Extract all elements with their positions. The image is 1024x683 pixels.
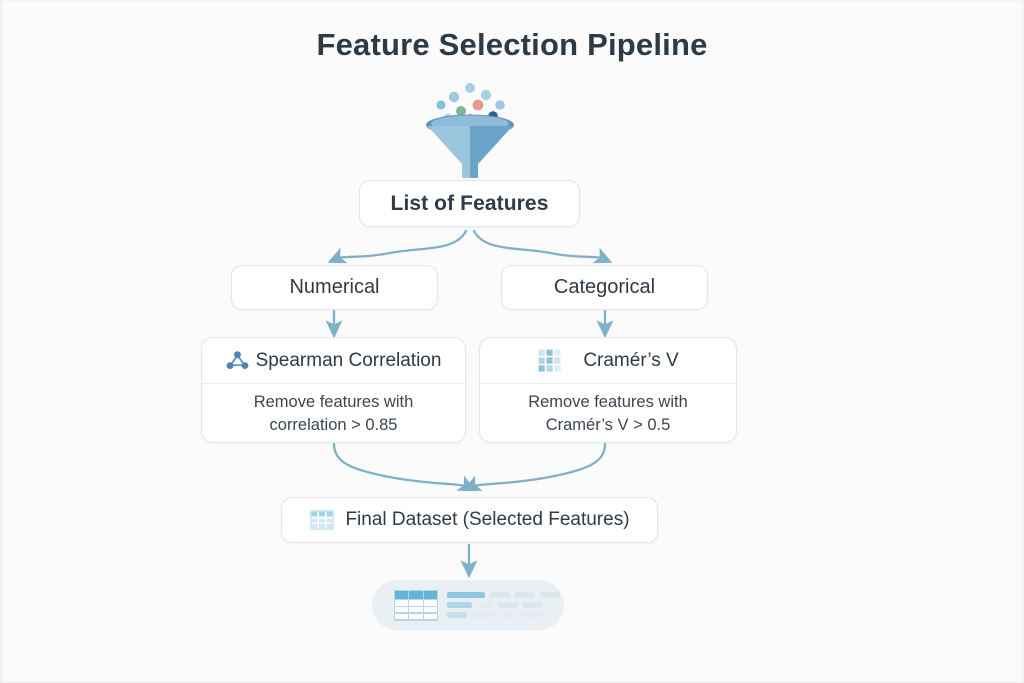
card-cramers-v-title: Cramér’s V <box>583 350 678 372</box>
node-list-of-features[interactable]: List of Features <box>359 180 580 227</box>
card-spearman-desc-line-2: correlation > 0.85 <box>270 414 398 436</box>
grid-matrix-icon <box>537 348 562 373</box>
illustration-bars <box>447 592 560 618</box>
node-categorical[interactable]: Categorical <box>501 265 708 310</box>
node-final-dataset[interactable]: Final Dataset (Selected Features) <box>281 497 658 543</box>
diagram-canvas: Feature Selection Pipeline List of Featu… <box>0 0 1024 683</box>
illustration-bar-row <box>447 592 560 598</box>
card-spearman-correlation[interactable]: Spearman Correlation Remove features wit… <box>201 337 466 443</box>
node-numerical-label: Numerical <box>289 276 379 299</box>
card-cramers-v-desc-line-2: Cramér’s V > 0.5 <box>546 414 671 436</box>
card-spearman-body: Remove features with correlation > 0.85 <box>202 384 465 443</box>
dataset-preview-illustration <box>372 580 564 630</box>
node-list-of-features-label: List of Features <box>391 192 549 216</box>
page-title: Feature Selection Pipeline <box>0 27 1024 63</box>
node-final-dataset-label: Final Dataset (Selected Features) <box>345 509 629 531</box>
card-cramers-v-header: Cramér’s V <box>480 338 736 384</box>
table-icon <box>309 509 335 531</box>
card-spearman-header: Spearman Correlation <box>202 338 465 384</box>
card-spearman-desc-line-1: Remove features with <box>254 391 414 413</box>
funnel-icon <box>408 78 532 178</box>
card-cramers-v-desc-line-1: Remove features with <box>528 391 688 413</box>
illustration-bar-row <box>447 612 560 618</box>
spreadsheet-icon <box>394 590 438 621</box>
illustration-bar-row <box>447 602 560 608</box>
connector-cramers-to-final <box>471 444 605 487</box>
connector-root-to-categorical <box>474 231 604 259</box>
card-cramers-v[interactable]: Cramér’s V Remove features with Cramér’s… <box>479 337 737 443</box>
node-categorical-label: Categorical <box>554 276 655 299</box>
node-numerical[interactable]: Numerical <box>231 265 438 310</box>
network-nodes-icon <box>226 350 249 371</box>
connector-root-to-numerical <box>336 231 466 259</box>
connector-spearman-to-final <box>334 444 468 487</box>
card-cramers-v-body: Remove features with Cramér’s V > 0.5 <box>480 384 736 443</box>
card-spearman-title: Spearman Correlation <box>256 350 442 372</box>
